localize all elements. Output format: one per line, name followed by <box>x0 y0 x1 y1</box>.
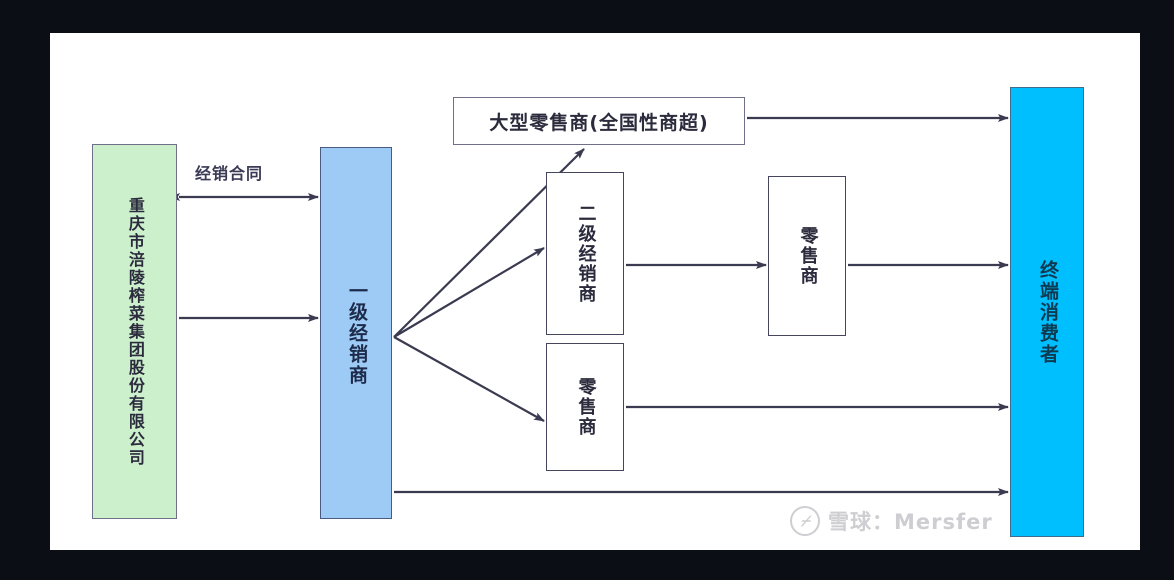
node-end-consumer-label: 终端消费者 <box>1037 260 1057 365</box>
node-retailer-upper-label: 零售商 <box>798 226 817 286</box>
node-retailer-upper[interactable]: 零售商 <box>768 176 846 336</box>
node-retailer-lower[interactable]: 零售商 <box>546 343 624 471</box>
edge-label-distribution-contract: 经销合同 <box>195 160 263 184</box>
node-big-retailer-label: 大型零售商(全国性商超) <box>489 108 708 135</box>
node-company[interactable]: 重庆市涪陵榨菜集团股份有限公司 <box>92 144 177 519</box>
node-company-label: 重庆市涪陵榨菜集团股份有限公司 <box>126 197 143 467</box>
node-tier1-distributor-label: 一级经销商 <box>346 281 366 386</box>
node-end-consumer[interactable]: 终端消费者 <box>1010 87 1084 537</box>
node-tier2-distributor[interactable]: 二级经销商 <box>546 172 624 335</box>
node-tier2-distributor-label: 二级经销商 <box>576 204 595 304</box>
diagram-canvas: 重庆市涪陵榨菜集团股份有限公司 一级经销商 大型零售商(全国性商超) 二级经销商… <box>50 33 1140 550</box>
node-retailer-lower-label: 零售商 <box>576 377 595 437</box>
node-tier1-distributor[interactable]: 一级经销商 <box>320 147 392 519</box>
node-big-retailer[interactable]: 大型零售商(全国性商超) <box>453 97 745 145</box>
figure-frame: 重庆市涪陵榨菜集团股份有限公司 一级经销商 大型零售商(全国性商超) 二级经销商… <box>0 0 1174 580</box>
edge-tier1-retailer-lower <box>394 337 544 421</box>
